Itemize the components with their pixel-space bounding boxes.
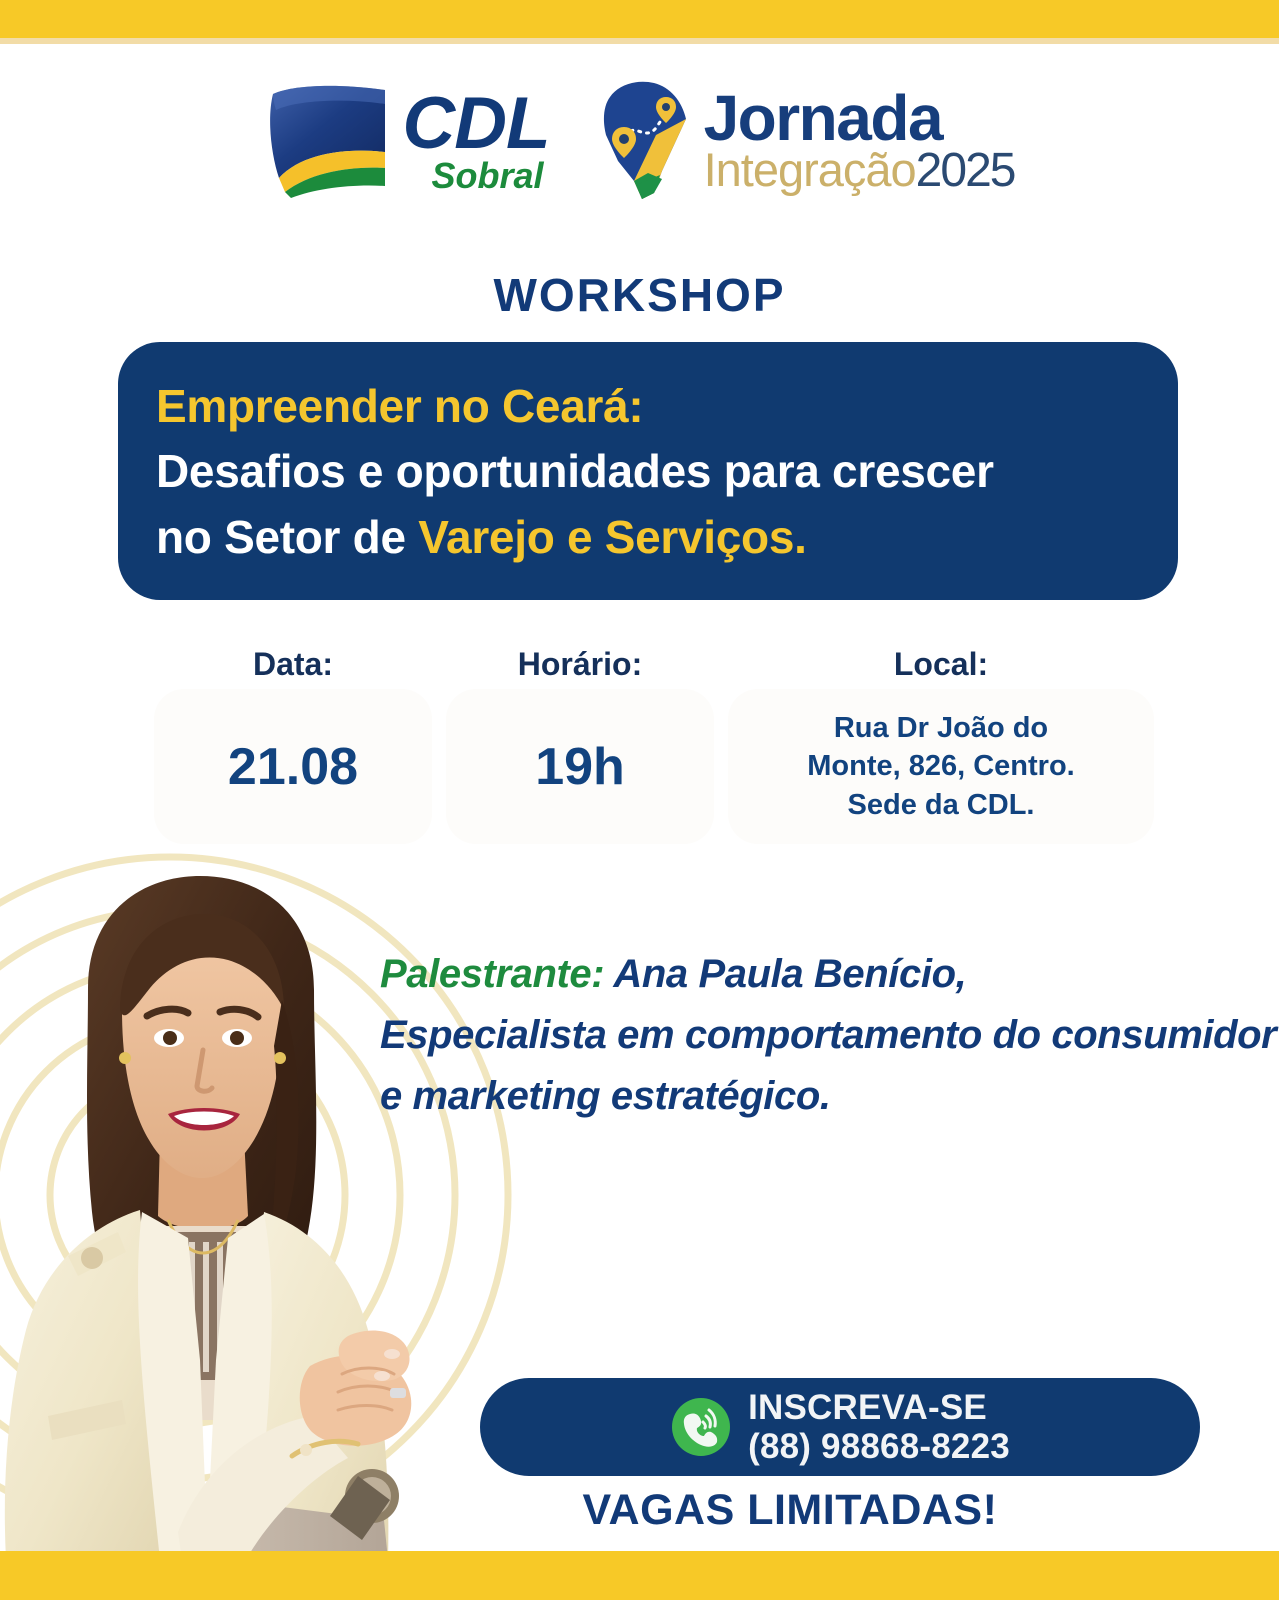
title-line-3-prefix: no Setor de <box>156 511 418 563</box>
title-card: Empreender no Ceará: Desafios e oportuni… <box>118 342 1178 600</box>
top-band-shadow <box>0 38 1279 44</box>
title-line-2: Desafios e oportunidades para crescer <box>156 439 1140 504</box>
cta-line-1: INSCREVA-SE <box>748 1388 1010 1427</box>
jornada-sub-text: Integração <box>704 149 916 191</box>
info-column-time: Horário: 19h <box>446 646 714 844</box>
place-card: Rua Dr João do Monte, 826, Centro. Sede … <box>728 689 1154 844</box>
whatsapp-phone-icon <box>670 1396 732 1458</box>
speaker-line-3: e marketing estratégico. <box>380 1066 1200 1127</box>
speaker-line-2: Especialista em comportamento do consumi… <box>380 1005 1200 1066</box>
title-line-3: no Setor de Varejo e Serviços. <box>156 505 1140 570</box>
cdl-sub-text: Sobral <box>432 159 544 192</box>
poster-root: CDL Sobral Jornada <box>0 0 1279 1600</box>
place-address: Rua Dr João do Monte, 826, Centro. Sede … <box>807 709 1075 824</box>
event-info-bar: Data: 21.08 Horário: 19h Local: Rua Dr J… <box>140 634 1168 858</box>
cdl-main-text: CDL <box>403 90 550 157</box>
info-column-date: Data: 21.08 <box>154 646 432 844</box>
title-line-3-highlight: Varejo e Serviços. <box>418 511 806 563</box>
title-line-1: Empreender no Ceará: <box>156 374 1140 439</box>
cdl-wordmark: CDL Sobral <box>403 90 550 192</box>
place-label: Local: <box>894 646 988 683</box>
speaker-label: Palestrante: <box>380 952 604 996</box>
jornada-logo: Jornada Integração 2025 <box>596 75 1015 207</box>
ceara-map-icon <box>596 75 696 207</box>
date-card: 21.08 <box>154 689 432 844</box>
jornada-wordmark: Jornada Integração 2025 <box>704 90 1015 193</box>
time-value: 19h <box>535 737 625 797</box>
time-label: Horário: <box>518 646 642 683</box>
cta-phone-number: (88) 98868-8223 <box>748 1427 1010 1466</box>
jornada-main-text: Jornada <box>704 90 1015 148</box>
top-yellow-band <box>0 0 1279 38</box>
time-card: 19h <box>446 689 714 844</box>
date-value: 21.08 <box>228 737 358 797</box>
cdl-flag-logo-icon <box>265 82 393 200</box>
speaker-line-1: Palestrante: Ana Paula Benício, <box>380 944 1200 1005</box>
cdl-logo: CDL Sobral <box>265 82 550 200</box>
place-line-3: Sede da CDL. <box>848 789 1035 821</box>
cta-text-block: INSCREVA-SE (88) 98868-8223 <box>748 1388 1010 1466</box>
title-line-1-highlight: Empreender no Ceará: <box>156 380 643 432</box>
place-line-2: Monte, 826, Centro. <box>807 750 1075 782</box>
eyebrow-workshop: WORKSHOP <box>0 268 1279 322</box>
date-label: Data: <box>253 646 333 683</box>
register-cta-button[interactable]: INSCREVA-SE (88) 98868-8223 <box>480 1378 1200 1476</box>
bottom-yellow-band <box>0 1551 1279 1600</box>
jornada-year-text: 2025 <box>916 149 1015 192</box>
speaker-name: Ana Paula Benício, <box>604 952 966 996</box>
place-line-1: Rua Dr João do <box>834 712 1048 744</box>
info-column-place: Local: Rua Dr João do Monte, 826, Centro… <box>728 646 1154 844</box>
limited-seats-note: VAGAS LIMITADAS! <box>380 1486 1200 1535</box>
logo-row: CDL Sobral Jornada <box>0 66 1279 216</box>
speaker-block: Palestrante: Ana Paula Benício, Especial… <box>380 944 1200 1126</box>
